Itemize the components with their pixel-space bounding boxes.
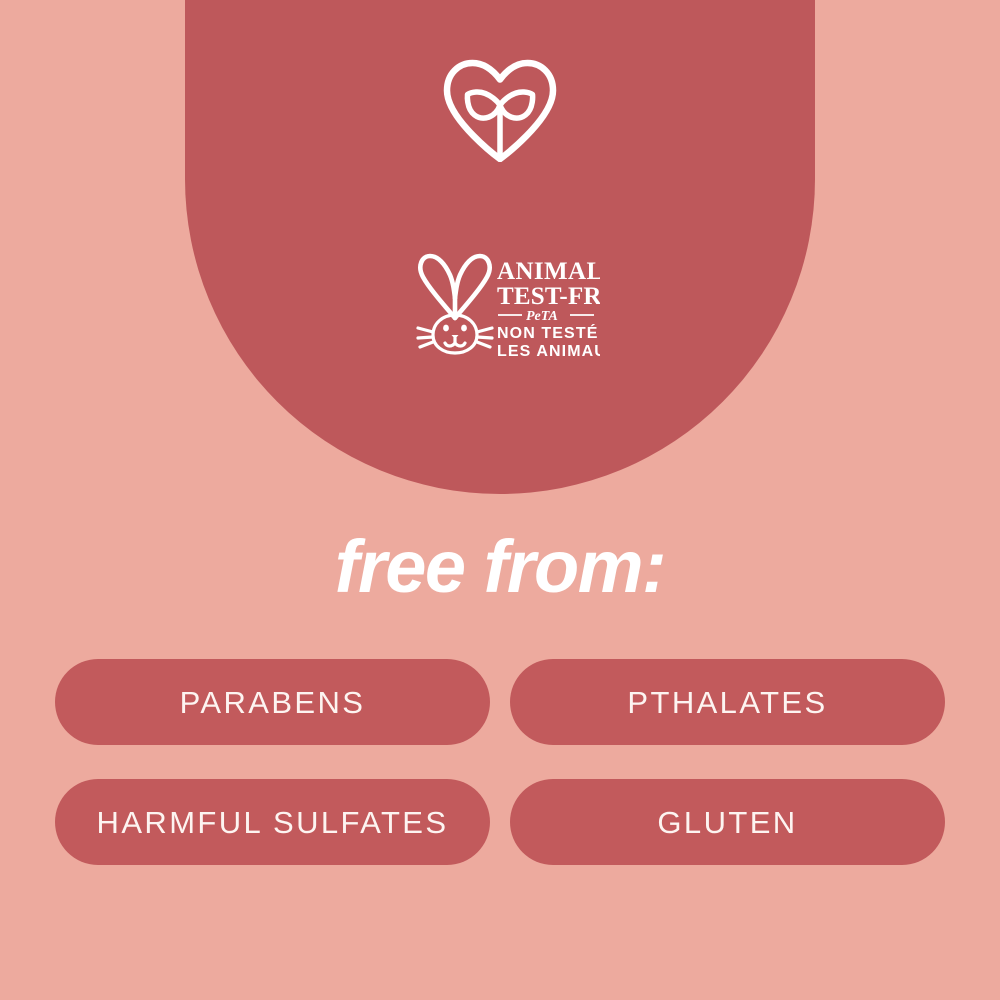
- product-claims-graphic: ANIMAL TEST-FREE PeTA NON TESTÉ SUR LES …: [0, 0, 1000, 1000]
- peta-line-non-teste: NON TESTÉ SUR: [497, 323, 600, 342]
- peta-brand: PeTA: [526, 309, 558, 324]
- peta-line-les-animaux: LES ANIMAUX: [497, 343, 600, 358]
- free-from-pill-parabens[interactable]: PARABENS: [55, 659, 490, 745]
- pill-label: PARABENS: [180, 687, 366, 718]
- heart-with-leaf-icon: [441, 58, 559, 162]
- peta-line-animal: ANIMAL: [497, 258, 600, 285]
- free-from-pill-harmful-sulfates[interactable]: HARMFUL SULFATES: [55, 779, 490, 865]
- peta-animal-test-free-badge: ANIMAL TEST-FREE PeTA NON TESTÉ SUR LES …: [412, 252, 600, 358]
- free-from-pill-gluten[interactable]: GLUTEN: [510, 779, 945, 865]
- pill-label: PTHALATES: [627, 687, 827, 718]
- page-title: free from:: [0, 524, 1000, 610]
- pill-label: GLUTEN: [657, 807, 797, 838]
- free-from-list: PARABENS PTHALATES HARMFUL SULFATES GLUT…: [55, 659, 945, 865]
- free-from-pill-pthalates[interactable]: PTHALATES: [510, 659, 945, 745]
- peta-line-test-free: TEST-FREE: [497, 283, 600, 310]
- pill-label: HARMFUL SULFATES: [97, 807, 449, 838]
